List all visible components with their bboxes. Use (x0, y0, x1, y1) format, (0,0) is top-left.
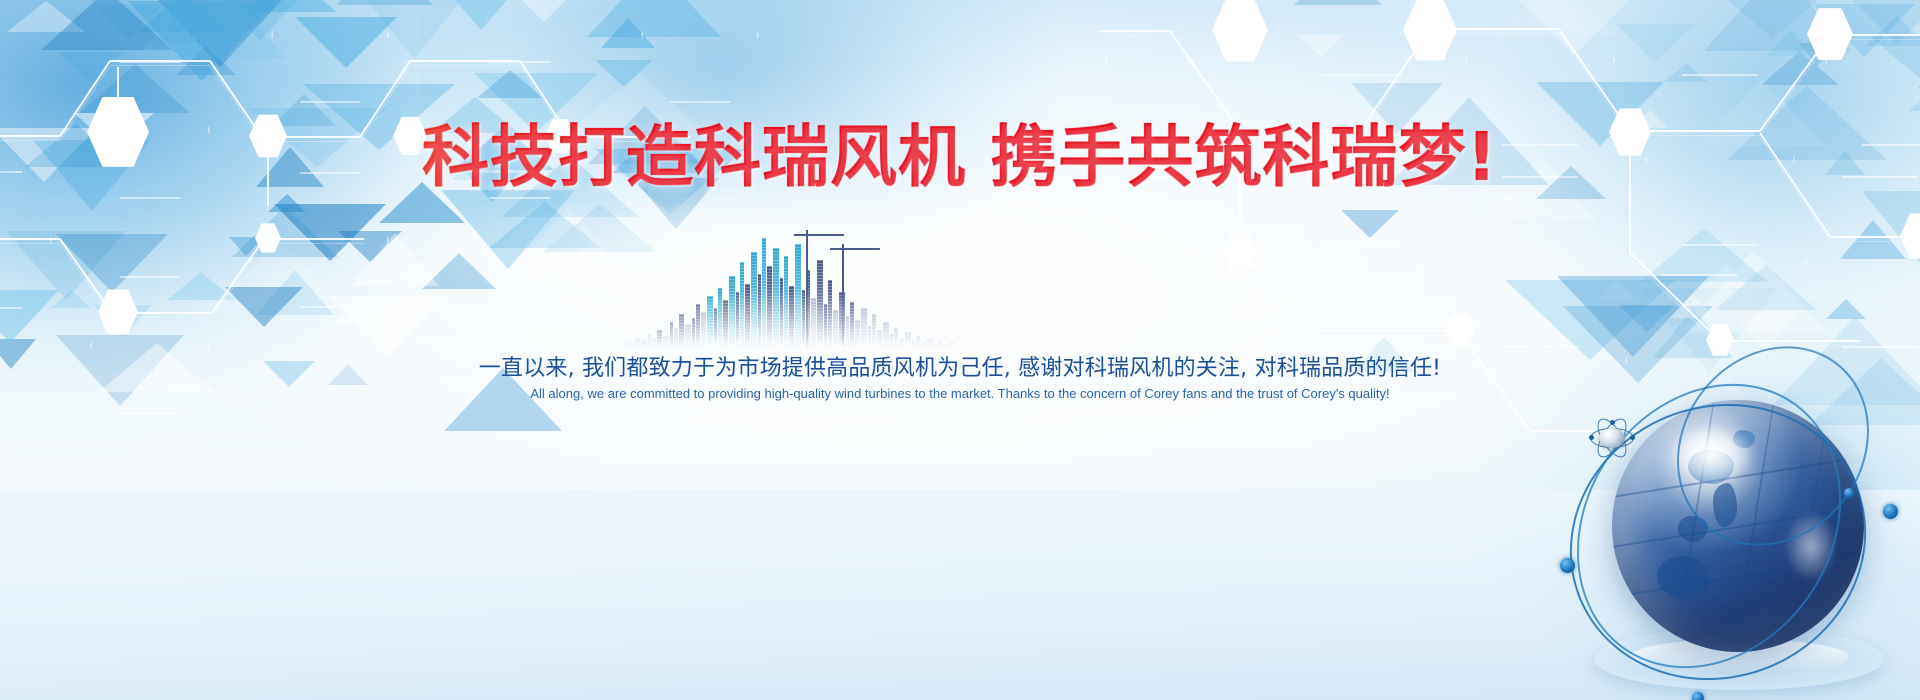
building (648, 334, 651, 348)
connector-line (1830, 236, 1920, 238)
triangle-shape (232, 207, 338, 257)
building (635, 339, 640, 348)
triangle-shape (1865, 16, 1920, 46)
triangle-shape (1826, 299, 1866, 319)
building (784, 256, 788, 348)
banner-subtitle-cn: 一直以来, 我们都致力于为市场提供高品质风机为己任, 感谢对科瑞风机的关注, 对… (0, 354, 1920, 385)
hexagon-outline (271, 0, 389, 103)
triangle-shape (137, 0, 227, 32)
building (872, 314, 876, 348)
connector-line (59, 238, 113, 313)
connector-line (1359, 28, 1431, 131)
banner-headline-text: 科技打造科瑞风机 携手共筑科瑞梦! (422, 118, 1498, 196)
building (949, 342, 955, 348)
orbit-node (1692, 692, 1704, 700)
connector-line (1169, 30, 1241, 131)
building (630, 343, 634, 348)
building (626, 342, 629, 348)
hexagon-node (255, 223, 281, 253)
connector-line (1100, 30, 1170, 32)
triangle-shape (1668, 262, 1784, 334)
hexagon-node (1900, 213, 1920, 259)
building (934, 343, 937, 348)
building (780, 278, 783, 348)
triangle-shape (351, 0, 477, 59)
connector-line (1830, 39, 1920, 40)
building (657, 330, 662, 348)
building (767, 266, 772, 348)
connector-line (110, 65, 210, 66)
triangle-shape (1640, 228, 1768, 282)
building (824, 304, 827, 348)
triangle-shape (295, 17, 397, 68)
triangle-shape (244, 0, 336, 12)
triangle-shape (1669, 293, 1715, 318)
triangle-shape (1766, 30, 1816, 56)
connector-line (1239, 250, 1320, 331)
triangle-shape (158, 0, 282, 67)
connector-line (1629, 252, 1720, 341)
connector-line (1430, 33, 1560, 34)
triangle-shape (1653, 308, 1733, 358)
triangle-shape (351, 233, 439, 286)
triangle-shape (1908, 65, 1920, 111)
connector-line (0, 243, 60, 244)
triangle-shape (128, 1, 276, 81)
building (718, 288, 722, 348)
triangle-shape (6, 231, 126, 300)
connector-line (264, 243, 364, 244)
building (921, 342, 926, 348)
building (905, 332, 911, 348)
hexagon-outline (1105, 176, 1255, 349)
building (927, 339, 933, 348)
triangle-shape (477, 70, 543, 98)
hexagon-outline (641, 0, 759, 103)
triangle-shape (1505, 280, 1675, 360)
building (729, 276, 735, 348)
triangle-shape (1615, 24, 1695, 62)
building (877, 330, 882, 348)
building (679, 314, 684, 348)
triangle-shape (453, 0, 509, 30)
connector-line (112, 317, 212, 318)
triangle-shape (274, 204, 386, 261)
building (670, 322, 673, 348)
orbit-node (1883, 504, 1898, 519)
building (846, 316, 849, 348)
building (828, 280, 832, 348)
triangle-shape (1297, 35, 1345, 57)
crane-icon (842, 244, 844, 348)
atom-icon (1590, 422, 1634, 454)
connector-line (110, 60, 210, 62)
triangle-shape (214, 237, 344, 308)
triangle-shape (176, 46, 236, 75)
triangle-shape (1489, 0, 1619, 37)
building (789, 286, 794, 348)
connector-line (1720, 340, 1860, 342)
connector-line (1559, 30, 1631, 131)
building (833, 310, 838, 348)
triangle-shape (587, 0, 721, 37)
building (641, 341, 647, 348)
triangle-shape (7, 1, 85, 32)
connector-line (410, 60, 520, 62)
building (701, 312, 706, 348)
connector-line (1320, 330, 1460, 332)
building (802, 290, 805, 348)
triangle-shape (1715, 265, 1817, 310)
triangle-shape (0, 290, 59, 343)
triangle-shape (80, 64, 190, 113)
building (692, 318, 695, 348)
triangle-shape (0, 194, 1, 219)
hexagon-outline (1805, 176, 1920, 349)
triangle-shape (1294, 0, 1382, 5)
triangle-shape (601, 18, 655, 48)
triangle-shape (41, 0, 173, 50)
triangle-shape (1761, 51, 1839, 85)
connector-line (60, 243, 113, 318)
triangle-shape (225, 287, 303, 327)
building (899, 338, 904, 348)
hexagon-node (1403, 0, 1457, 61)
triangle-shape (441, 190, 575, 269)
building (714, 308, 717, 348)
building (811, 298, 816, 348)
triangle-shape (256, 270, 334, 315)
triangle-shape (1664, 63, 1708, 82)
building (652, 338, 656, 348)
triangle-shape (1867, 34, 1920, 92)
building (795, 244, 801, 348)
building (707, 296, 713, 348)
connector-line (1240, 255, 1321, 336)
triangle-shape (153, 0, 243, 42)
building (745, 284, 750, 348)
building (762, 238, 766, 348)
globe-graphic (1572, 366, 1902, 700)
connector-line (264, 238, 364, 240)
hexagon-node (98, 289, 138, 335)
connector-line (1759, 34, 1831, 131)
building (663, 336, 669, 348)
triangle-shape (329, 296, 445, 359)
building (894, 328, 898, 348)
building (883, 322, 889, 348)
hexagon-node (1445, 313, 1475, 348)
hexagon-node (1223, 232, 1257, 271)
building (773, 248, 779, 348)
connector-line (112, 312, 212, 314)
triangle-shape (522, 0, 566, 22)
triangle-shape (489, 202, 601, 248)
building (890, 334, 893, 348)
triangle-shape (1557, 276, 1709, 357)
triangle-shape (1619, 305, 1675, 332)
building (855, 320, 860, 348)
hexagon-node (1212, 0, 1268, 62)
triangle-shape (94, 4, 164, 39)
building (751, 252, 757, 348)
building (850, 302, 854, 348)
triangle-shape (1862, 191, 1920, 286)
building (723, 300, 728, 348)
building (674, 328, 678, 348)
connector-line (1430, 28, 1560, 30)
triangle-shape (167, 272, 235, 300)
hexagon-node (1807, 8, 1853, 61)
building (861, 308, 867, 348)
triangle-shape (1840, 220, 1906, 259)
building (916, 336, 920, 348)
triangle-shape (56, 234, 168, 292)
orbit-node (1560, 558, 1575, 573)
triangle-shape (595, 60, 653, 87)
building (758, 274, 761, 348)
hexagon-outline (1465, 176, 1615, 349)
triangle-shape (337, 0, 433, 5)
triangle-shape (1813, 4, 1915, 57)
triangle-shape (422, 253, 496, 289)
building (696, 304, 700, 348)
banner-subtitle-en: All along, we are committed to providing… (0, 385, 1920, 403)
triangle-shape (229, 237, 263, 256)
connector-line (1830, 241, 1920, 242)
triangle-shape (1696, 0, 1850, 39)
building (736, 292, 739, 348)
triangle-shape (1341, 210, 1399, 238)
triangle-shape (1599, 278, 1635, 300)
triangle-shape (1509, 0, 1639, 55)
connector-line (1630, 257, 1721, 346)
connector-line (1320, 335, 1460, 336)
connector-line (211, 238, 265, 313)
triangle-shape (338, 231, 402, 262)
triangle-shape (94, 305, 152, 337)
building (868, 326, 871, 348)
cityscape-graphic (610, 228, 970, 348)
building (938, 341, 942, 348)
orbit-node (1844, 488, 1854, 498)
triangle-shape (51, 290, 91, 308)
triangle-shape (332, 311, 364, 324)
connector-line (0, 238, 60, 240)
building (943, 344, 948, 348)
promo-banner: 科技打造科瑞风机 携手共筑科瑞梦! 一直以来, 我们都致力于为市场提供高品质风机… (0, 0, 1920, 700)
triangle-shape (58, 52, 124, 83)
connector-line (212, 243, 265, 318)
connector-line (1830, 34, 1920, 36)
triangle-shape (1704, 0, 1852, 51)
building (740, 262, 744, 348)
building (685, 324, 691, 348)
building (817, 260, 823, 348)
triangle-shape (1680, 251, 1826, 331)
triangle-shape (213, 0, 307, 41)
triangle-shape (1817, 0, 1920, 44)
building (912, 340, 915, 348)
connector-line (1100, 35, 1170, 36)
hexagon-node (1706, 324, 1734, 356)
connector-line (410, 65, 520, 66)
triangle-shape (1798, 43, 1836, 66)
triangle-shape (136, 0, 286, 58)
crane-icon (806, 230, 808, 348)
banner-headline: 科技打造科瑞风机 携手共筑科瑞梦! (0, 118, 1920, 197)
